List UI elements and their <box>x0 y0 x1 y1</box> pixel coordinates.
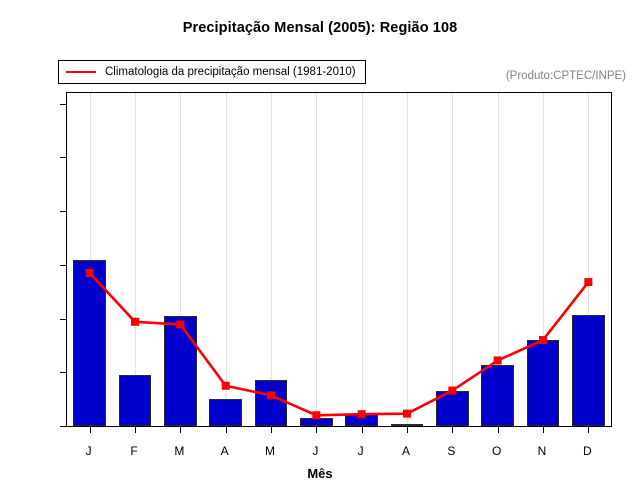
plot-area <box>66 92 612 427</box>
chart-figure: Precipitação Mensal (2005): Região 108 (… <box>0 0 640 500</box>
x-tick-label-9: O <box>477 444 517 458</box>
gridline-vertical <box>362 93 363 426</box>
x-tick-mark <box>588 426 589 433</box>
x-tick-mark <box>180 426 181 433</box>
x-tick-label-11: D <box>567 444 607 458</box>
x-tick-label-1: F <box>114 444 154 458</box>
bar-j-5 <box>300 418 333 426</box>
x-tick-mark <box>135 426 136 433</box>
y-tick-mark <box>60 157 67 158</box>
x-tick-label-7: A <box>386 444 426 458</box>
bar-j-6 <box>345 414 378 426</box>
legend-line-swatch-icon <box>66 71 96 73</box>
x-axis-label: Mês <box>0 466 640 481</box>
x-tick-mark <box>407 426 408 433</box>
y-tick-mark <box>60 211 67 212</box>
x-tick-label-4: M <box>250 444 290 458</box>
x-tick-mark <box>362 426 363 433</box>
chart-legend: Climatologia da precipitação mensal (198… <box>58 60 366 84</box>
gridline-vertical <box>316 93 317 426</box>
plot-inner <box>67 93 611 426</box>
x-tick-label-0: J <box>69 444 109 458</box>
x-tick-mark <box>498 426 499 433</box>
y-tick-mark <box>60 265 67 266</box>
bar-o-9 <box>481 365 514 426</box>
x-tick-label-5: J <box>295 444 335 458</box>
gridline-vertical <box>226 93 227 426</box>
bar-m-4 <box>255 380 288 426</box>
bar-j-0 <box>73 260 106 426</box>
y-tick-mark <box>60 372 67 373</box>
y-tick-mark <box>60 426 67 427</box>
x-tick-label-3: A <box>205 444 245 458</box>
gridline-vertical <box>407 93 408 426</box>
y-tick-mark <box>60 104 67 105</box>
bar-m-2 <box>164 316 197 426</box>
x-tick-label-2: M <box>159 444 199 458</box>
x-tick-mark <box>90 426 91 433</box>
page-title: Precipitação Mensal (2005): Região 108 <box>0 20 640 36</box>
x-tick-mark <box>452 426 453 433</box>
gridline-vertical <box>452 93 453 426</box>
x-tick-mark <box>316 426 317 433</box>
x-tick-mark <box>271 426 272 433</box>
bar-a-3 <box>209 399 242 426</box>
x-tick-label-10: N <box>522 444 562 458</box>
bar-n-10 <box>527 340 560 426</box>
bar-d-11 <box>572 315 605 426</box>
x-tick-label-8: S <box>431 444 471 458</box>
gridline-vertical <box>271 93 272 426</box>
x-tick-mark <box>226 426 227 433</box>
y-tick-mark <box>60 319 67 320</box>
legend-item-label: Climatologia da precipitação mensal (198… <box>105 66 356 78</box>
source-annotation: (Produto:CPTEC/INPE) <box>506 70 626 82</box>
x-tick-label-6: J <box>341 444 381 458</box>
bar-s-8 <box>436 391 469 426</box>
x-tick-mark <box>543 426 544 433</box>
bar-f-1 <box>119 375 152 426</box>
